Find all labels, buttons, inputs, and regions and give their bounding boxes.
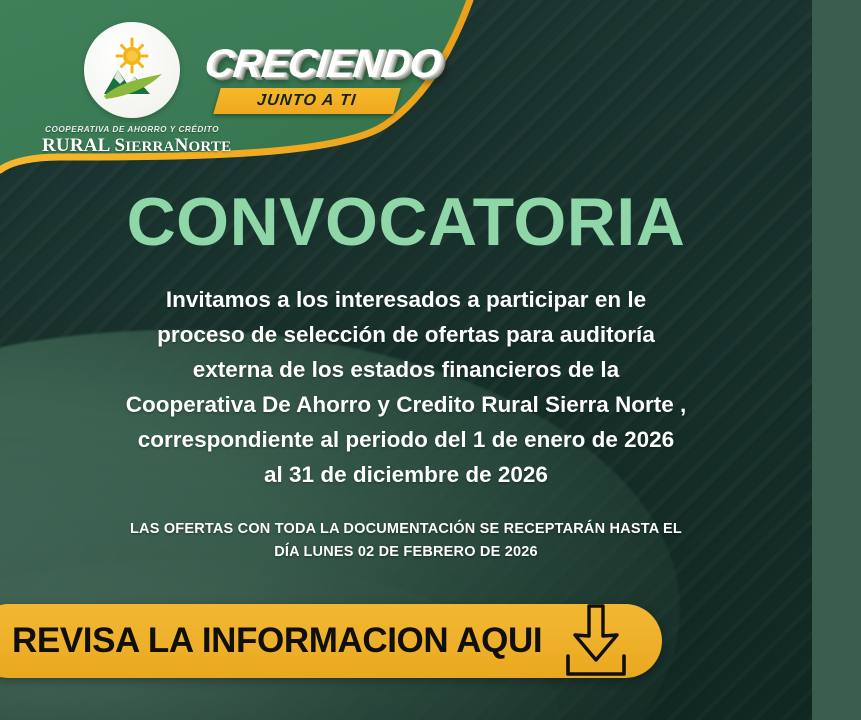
body-line: proceso de selección de ofertas para aud… — [60, 317, 752, 352]
cta-button[interactable]: REVISA LA INFORMACION AQUI — [0, 604, 662, 678]
page-title: CONVOCATORIA — [0, 188, 812, 256]
download-arrow-icon[interactable] — [560, 602, 632, 680]
body-line: Cooperativa De Ahorro y Credito Rural Si… — [60, 387, 752, 422]
body-line: externa de los estados financieros de la — [60, 352, 752, 387]
right-letterbox-band — [812, 0, 861, 720]
cta-label: REVISA LA INFORMACION AQUI — [12, 621, 542, 661]
deadline-note-line: LAS OFERTAS CON TODA LA DOCUMENTACIÓN SE… — [60, 518, 752, 541]
body-line: Invitamos a los interesados a participar… — [60, 282, 752, 317]
deadline-note-line: DÍA LUNES 02 DE FEBRERO DE 2026 — [60, 541, 752, 564]
body-line: correspondiente al periodo del 1 de ener… — [60, 422, 752, 457]
body-copy: Invitamos a los interesados a participar… — [60, 282, 752, 492]
main-content: CONVOCATORIA Invitamos a los interesados… — [0, 0, 812, 720]
body-line: al 31 de diciembre de 2026 — [60, 457, 752, 492]
poster-canvas: COOPERATIVA DE AHORRO Y CRÉDITO RURAL SI… — [0, 0, 861, 720]
deadline-note: LAS OFERTAS CON TODA LA DOCUMENTACIÓN SE… — [60, 518, 752, 564]
